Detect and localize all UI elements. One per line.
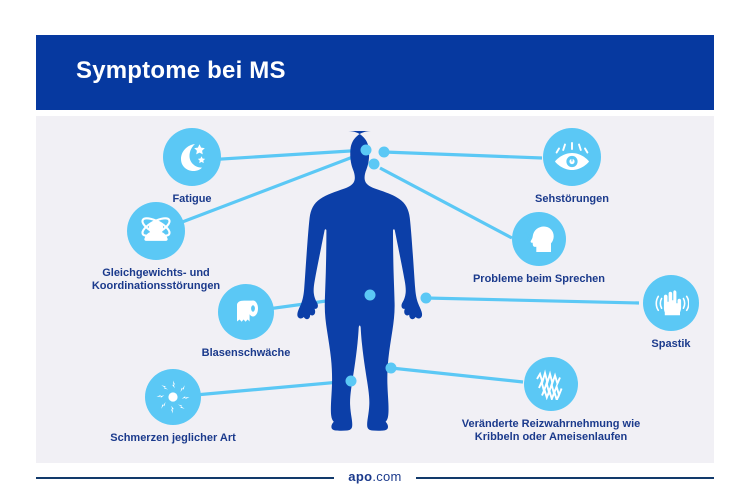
symptom-label-speech: Probleme beim Sprechen bbox=[466, 273, 612, 286]
zigzag-waves-icon bbox=[533, 368, 569, 400]
symptom-label-bladder: Blasenschwäche bbox=[178, 347, 314, 360]
bladder-circle bbox=[218, 284, 274, 340]
dot-thigh bbox=[386, 363, 397, 374]
dot-head-left bbox=[361, 145, 372, 156]
symptom-node-balance[interactable]: Gleichgewichts- und Koordinationsstörung… bbox=[46, 202, 266, 293]
footer-logo[interactable]: apo.com bbox=[0, 468, 750, 486]
logo-brand: apo bbox=[348, 469, 372, 484]
dot-leg bbox=[346, 376, 357, 387]
trembling-hand-icon bbox=[653, 285, 689, 321]
infographic-root: Symptome bei MS bbox=[0, 0, 750, 500]
symptom-node-pain[interactable]: Schmerzen jeglicher Art bbox=[66, 369, 280, 445]
human-body-silhouette bbox=[297, 131, 422, 431]
logo-domain: .com bbox=[372, 469, 401, 484]
crescent-moon-stars-icon bbox=[175, 140, 209, 174]
symptom-label-balance-line1: Gleichgewichts- und bbox=[46, 267, 266, 280]
symptom-node-sensory[interactable]: Veränderte Reizwahrnehmung wie Kribbeln … bbox=[441, 357, 661, 444]
dot-head-right bbox=[379, 147, 390, 158]
dot-jaw bbox=[369, 159, 380, 170]
apo-logo[interactable]: apo.com bbox=[334, 469, 415, 484]
speech-circle bbox=[512, 212, 566, 266]
symptom-node-fatigue[interactable]: Fatigue bbox=[136, 128, 248, 206]
speaking-head-profile-icon bbox=[522, 222, 556, 256]
spasticity-circle bbox=[643, 275, 699, 331]
balance-circle bbox=[127, 202, 185, 260]
symptom-label-pain: Schmerzen jeglicher Art bbox=[66, 432, 280, 445]
toilet-paper-roll-icon bbox=[229, 295, 263, 329]
symptom-node-spasticity[interactable]: Spastik bbox=[634, 275, 708, 351]
radiating-pain-burst-icon bbox=[153, 377, 193, 417]
sensory-circle bbox=[524, 357, 578, 411]
atom-orbit-person-icon bbox=[137, 212, 175, 250]
eye-icon bbox=[553, 140, 591, 174]
pain-circle bbox=[145, 369, 201, 425]
fatigue-circle bbox=[163, 128, 221, 186]
dot-hip bbox=[365, 290, 376, 301]
symptom-label-sensory-line1: Veränderte Reizwahrnehmung wie bbox=[441, 418, 661, 431]
symptom-label-sensory-line2: Kribbeln oder Ameisenlaufen bbox=[441, 431, 661, 444]
dot-hand bbox=[421, 293, 432, 304]
vision-circle bbox=[543, 128, 601, 186]
symptom-node-vision[interactable]: Sehstörungen bbox=[512, 128, 632, 206]
symptom-node-bladder[interactable]: Blasenschwäche bbox=[178, 284, 314, 360]
symptom-node-speech[interactable]: Probleme beim Sprechen bbox=[466, 212, 612, 286]
symptom-label-vision: Sehstörungen bbox=[512, 193, 632, 206]
connector-spasticity bbox=[426, 298, 639, 303]
symptom-label-spasticity: Spastik bbox=[634, 338, 708, 351]
